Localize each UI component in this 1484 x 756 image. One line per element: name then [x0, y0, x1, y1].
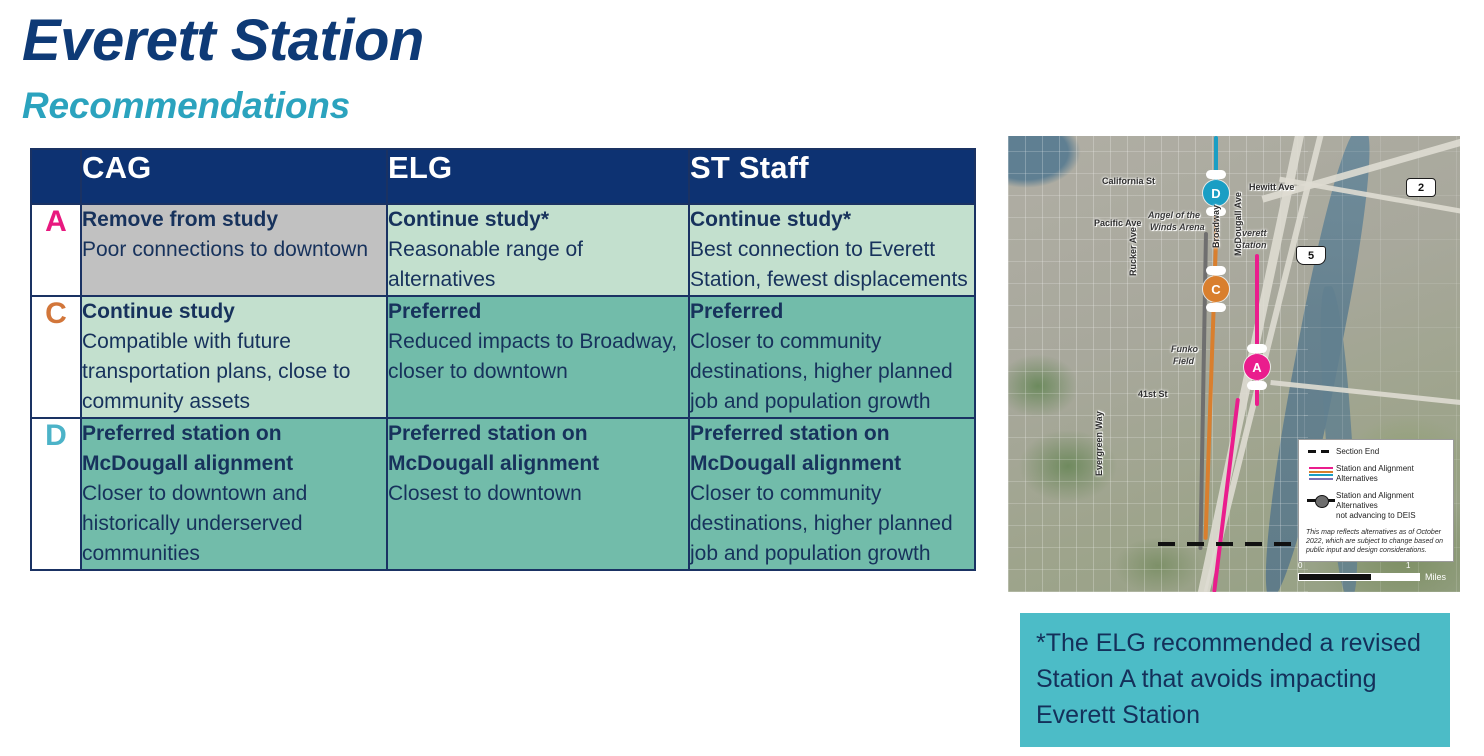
- map-label-mcdougall-ave: McDougall Ave: [1233, 192, 1243, 256]
- alternatives-map: D C A 2 5 California St Angel of the Win…: [1008, 136, 1460, 592]
- map-shield-i-5: 5: [1296, 246, 1326, 265]
- page-title: Everett Station: [22, 8, 424, 74]
- table-header-row: CAG ELG ST Staff: [31, 149, 975, 204]
- cell-d-st-headline: Preferred station on McDougall alignment: [690, 419, 974, 479]
- cell-d-cag-headline: Preferred station on McDougall alignment: [82, 419, 386, 479]
- cell-d-elg-headline: Preferred station on McDougall alignment: [388, 419, 688, 479]
- recommendations-table: CAG ELG ST Staff A Remove from study Poo…: [30, 148, 976, 571]
- cell-d-st-detail: Closer to community destinations, higher…: [690, 479, 974, 569]
- cell-c-elg-headline: Preferred: [388, 297, 688, 327]
- legend-label-section-end: Section End: [1336, 447, 1379, 457]
- cell-c-cag-headline: Continue study: [82, 297, 386, 327]
- map-label-evergreen-way: Evergreen Way: [1094, 411, 1104, 476]
- cell-c-cag: Continue study Compatible with future tr…: [81, 296, 387, 418]
- section-end-icon: [1306, 447, 1336, 453]
- column-header-cag: CAG: [81, 149, 387, 204]
- scale-units-label: Miles: [1425, 572, 1446, 582]
- cell-c-st-headline: Preferred: [690, 297, 974, 327]
- cell-c-elg-detail: Reduced impacts to Broadway, closer to d…: [388, 327, 688, 387]
- cell-d-cag: Preferred station on McDougall alignment…: [81, 418, 387, 570]
- cell-c-st-staff: Preferred Closer to community destinatio…: [689, 296, 975, 418]
- cell-c-st-detail: Closer to community destinations, higher…: [690, 327, 974, 417]
- cell-d-elg: Preferred station on McDougall alignment…: [387, 418, 689, 570]
- legend-disclaimer-note: This map reflects alternatives as of Oct…: [1306, 528, 1447, 555]
- scale-bar-graphic: [1298, 573, 1420, 581]
- legend-label-not-advancing-line2: not advancing to DEIS: [1336, 511, 1447, 521]
- column-header-elg: ELG: [387, 149, 689, 204]
- row-label-d: D: [31, 418, 81, 570]
- legend-row-alternatives: Station and Alignment Alternatives: [1306, 464, 1447, 484]
- map-station-pin-d[interactable]: D: [1203, 180, 1229, 206]
- scale-max-label: 1: [1406, 561, 1410, 570]
- cell-d-st-staff: Preferred station on McDougall alignment…: [689, 418, 975, 570]
- column-header-st-staff: ST Staff: [689, 149, 975, 204]
- scale-min-label: 0: [1298, 561, 1302, 570]
- table-row-d: D Preferred station on McDougall alignme…: [31, 418, 975, 570]
- legend-row-section-end: Section End: [1306, 447, 1447, 457]
- cell-a-elg-detail: Reasonable range of alternatives: [388, 235, 688, 295]
- cell-a-cag-headline: Remove from study: [82, 205, 386, 235]
- legend-label-not-advancing-line1: Station and Alignment Alternatives: [1336, 491, 1447, 511]
- map-label-hewitt-ave: Hewitt Ave: [1249, 182, 1294, 192]
- map-label-funko-field-line2: Field: [1173, 356, 1194, 366]
- map-station-pin-a[interactable]: A: [1244, 354, 1270, 380]
- map-label-california-st: California St: [1102, 176, 1155, 186]
- map-label-broadway: Broadway: [1211, 205, 1221, 248]
- column-header-blank: [31, 149, 81, 204]
- map-label-funko-field-line1: Funko: [1171, 344, 1198, 354]
- map-scale-bar: 0 1 Miles: [1298, 561, 1448, 582]
- cell-c-cag-detail: Compatible with future transportation pl…: [82, 327, 386, 417]
- page-subtitle: Recommendations: [22, 84, 350, 128]
- row-label-a: A: [31, 204, 81, 296]
- cell-d-cag-detail: Closer to downtown and historically unde…: [82, 479, 386, 569]
- map-section-end-line: [1158, 542, 1298, 546]
- cell-a-cag: Remove from study Poor connections to do…: [81, 204, 387, 296]
- cell-a-st-staff: Continue study* Best connection to Evere…: [689, 204, 975, 296]
- map-legend: Section End Station and Alignment Altern…: [1298, 439, 1454, 562]
- map-station-pin-c[interactable]: C: [1203, 276, 1229, 302]
- legend-label-alternatives: Station and Alignment Alternatives: [1336, 464, 1447, 484]
- map-shield-us-2: 2: [1406, 178, 1436, 197]
- cell-a-cag-detail: Poor connections to downtown: [82, 235, 386, 265]
- cell-a-st-headline: Continue study*: [690, 205, 974, 235]
- map-label-rucker-ave: Rucker Ave: [1128, 227, 1138, 276]
- cell-a-st-detail: Best connection to Everett Station, fewe…: [690, 235, 974, 295]
- table-row-c: C Continue study Compatible with future …: [31, 296, 975, 418]
- elg-footnote-callout: *The ELG recommended a revised Station A…: [1020, 613, 1450, 747]
- cell-c-elg: Preferred Reduced impacts to Broadway, c…: [387, 296, 689, 418]
- map-label-41st-st: 41st St: [1138, 389, 1168, 399]
- not-advancing-station-icon: [1306, 491, 1336, 506]
- map-label-angel-arena-line1: Angel of the: [1148, 210, 1200, 220]
- legend-label-not-advancing: Station and Alignment Alternatives not a…: [1336, 491, 1447, 521]
- legend-row-not-advancing: Station and Alignment Alternatives not a…: [1306, 491, 1447, 521]
- cell-d-elg-detail: Closest to downtown: [388, 479, 688, 509]
- alignment-alternatives-icon: [1306, 464, 1336, 481]
- table-row-a: A Remove from study Poor connections to …: [31, 204, 975, 296]
- cell-a-elg-headline: Continue study*: [388, 205, 688, 235]
- cell-a-elg: Continue study* Reasonable range of alte…: [387, 204, 689, 296]
- map-label-angel-arena-line2: Winds Arena: [1150, 222, 1205, 232]
- row-label-c: C: [31, 296, 81, 418]
